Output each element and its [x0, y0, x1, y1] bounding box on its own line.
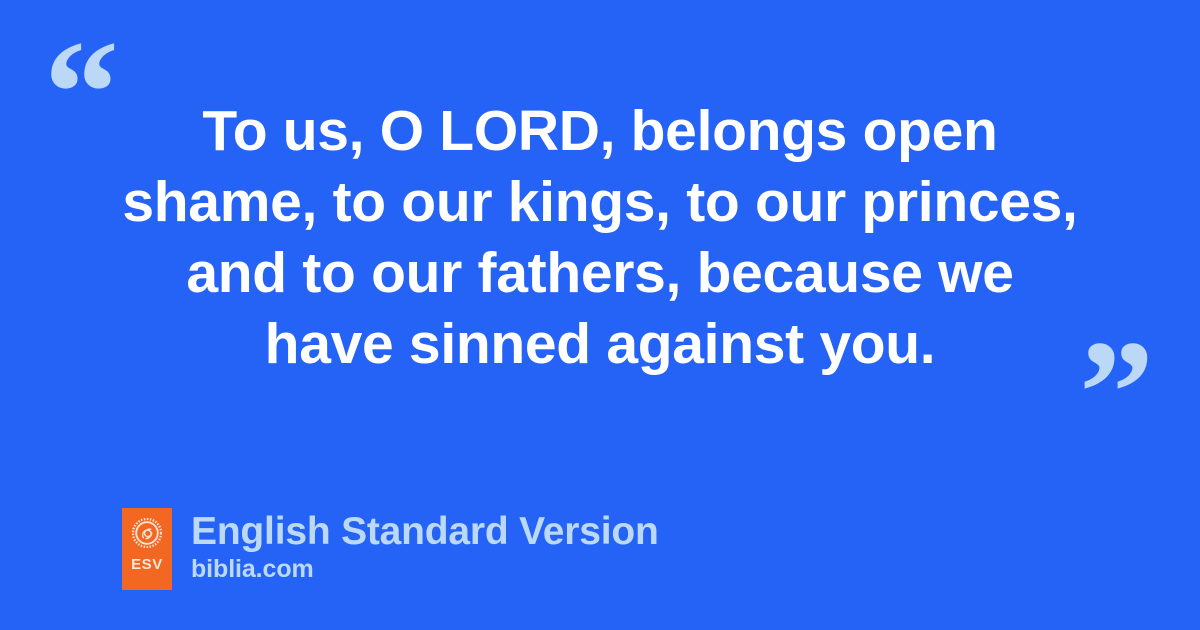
verse-line: To us, O LORD, belongs open	[80, 96, 1120, 167]
verse-line: and to our fathers, because we	[80, 238, 1120, 309]
esv-logo: ESV	[122, 508, 172, 590]
verse-text: To us, O LORD, belongs open shame, to ou…	[80, 96, 1120, 380]
attribution-text: English Standard Version biblia.com	[191, 508, 659, 584]
esv-abbreviation: ESV	[122, 556, 172, 573]
attribution: ESV English Standard Version biblia.com	[122, 508, 659, 590]
esv-seal-icon	[132, 518, 162, 548]
site-url[interactable]: biblia.com	[191, 554, 659, 584]
verse-line: have sinned against you.	[80, 309, 1120, 380]
close-quote-icon: ”	[1079, 318, 1154, 468]
quote-card: “ To us, O LORD, belongs open shame, to …	[0, 0, 1200, 630]
bible-version-name: English Standard Version	[191, 510, 659, 554]
verse-line: shame, to our kings, to our princes,	[80, 167, 1120, 238]
